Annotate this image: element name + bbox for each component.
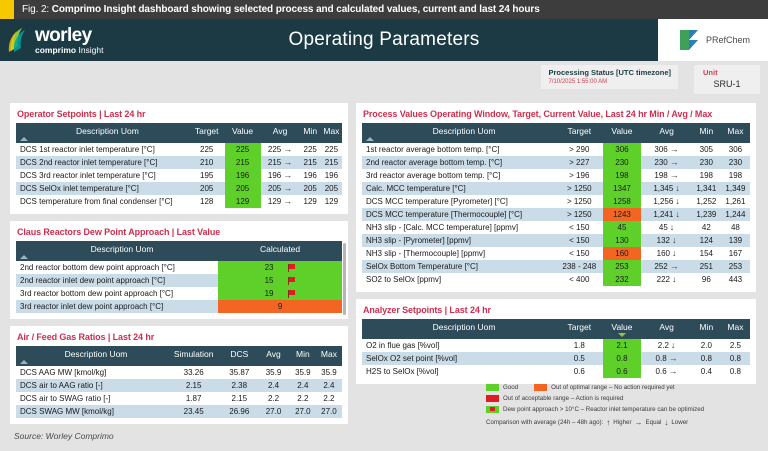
swatch-good-icon — [486, 384, 499, 391]
cell-avg: 2.4 — [257, 379, 290, 392]
cell-max: 2.2 — [316, 392, 342, 405]
table-header-row: Description Uom Target Value Avg Min Max — [362, 123, 750, 143]
cell-max: 2.5 — [721, 339, 750, 352]
cell-max: 0.8 — [721, 352, 750, 365]
figure-caption-bar: Fig. 2: Comprimo Insight dashboard showi… — [0, 0, 768, 19]
cell-avg: 252→ — [641, 260, 691, 273]
cell-target: > 1250 — [556, 208, 603, 221]
cell-desc: 1st reactor average bottom temp. [°C] — [362, 143, 556, 156]
col-simulation[interactable]: Simulation — [166, 346, 221, 366]
col-max[interactable]: Max — [721, 319, 750, 339]
cell-avg: 129→ — [261, 195, 300, 208]
legend-higher-label: Higher — [613, 418, 631, 428]
sort-asc-icon — [20, 137, 28, 141]
trend-eq-icon: → — [670, 145, 679, 154]
sort-asc-icon — [20, 255, 28, 259]
cell-target: > 290 — [556, 143, 603, 156]
table-row[interactable]: 2nd reactor bottom dew point approach [°… — [16, 261, 342, 274]
cell-value: 0.6 — [603, 365, 642, 378]
process-values-card: Process Values Operating Window, Target,… — [356, 103, 756, 292]
table-row[interactable]: NH3 slip - [Pyrometer] [ppmv]< 150130132… — [362, 234, 750, 247]
sort-desc-icon — [618, 333, 626, 337]
cell-avg: 222↓ — [641, 273, 691, 286]
col-min[interactable]: Min — [290, 346, 316, 366]
trend-eq-icon: → — [669, 367, 678, 376]
cell-target: > 1250 — [556, 182, 603, 195]
cell-avg: 27.0 — [257, 405, 290, 418]
cell-avg: 2.2↓ — [641, 339, 691, 352]
operator-setpoints-title: Operator Setpoints | Last 24 hr — [17, 109, 342, 119]
cell-min: 2.2 — [290, 392, 316, 405]
source-caption: Source: Worley Comprimo — [14, 431, 114, 441]
legend-equal-label: Equal — [646, 418, 662, 428]
cell-min: 2.4 — [290, 379, 316, 392]
trend-eq-icon: → — [669, 354, 678, 363]
prefchem-icon — [676, 27, 702, 53]
cell-desc: NH3 slip - [Calc. MCC temperature] [ppmv… — [362, 221, 556, 234]
col-description[interactable]: Description Uom — [16, 241, 218, 261]
col-avg[interactable]: Avg — [261, 123, 300, 143]
cell-max: 139 — [721, 234, 750, 247]
cell-value: 306 — [603, 143, 642, 156]
status-legend: Good Out of optimal range – No action re… — [486, 383, 758, 429]
operator-setpoints-table: Description Uom Target Value Avg Min Max… — [16, 123, 342, 208]
cell-avg: 1,345↓ — [641, 182, 691, 195]
cell-target: 225 — [189, 143, 225, 156]
cell-min: 251 — [692, 260, 721, 273]
cell-max: 167 — [721, 247, 750, 260]
cell-value: 1347 — [603, 182, 642, 195]
cell-min: 225 — [300, 143, 321, 156]
cell-avg: 1,241↓ — [641, 208, 691, 221]
dew-point-table: Description Uom Calculated 2nd reactor b… — [16, 241, 342, 313]
cell-value: 0.8 — [603, 352, 642, 365]
cell-dcs: 35.87 — [221, 366, 257, 379]
cell-max: 2.4 — [316, 379, 342, 392]
trend-down-icon: ↓ — [672, 275, 677, 284]
cell-max: 198 — [721, 169, 750, 182]
legend-row-good-warn: Good Out of optimal range – No action re… — [486, 383, 758, 393]
cell-desc: NH3 slip - [Pyrometer] [ppmv] — [362, 234, 556, 247]
trend-eq-icon: → — [283, 184, 292, 193]
table-row[interactable]: H2S to SelOx [%vol]0.60.60.6→0.40.8 — [362, 365, 750, 378]
col-description[interactable]: Description Uom — [362, 123, 556, 143]
col-label: Description Uom — [65, 349, 128, 359]
cell-target: < 150 — [556, 247, 603, 260]
cell-desc: SelOx O2 set point [%vol] — [362, 352, 556, 365]
swatch-bad-icon — [486, 395, 499, 402]
cell-min: 124 — [692, 234, 721, 247]
legend-flag-label: Dew point approach > 10°C – Reactor inle… — [503, 405, 704, 415]
cell-target: > 1250 — [556, 195, 603, 208]
analyzer-setpoints-card: Analyzer Setpoints | Last 24 hr Descript… — [356, 299, 756, 384]
table-row[interactable]: Calc. MCC temperature [°C]> 125013471,34… — [362, 182, 750, 195]
trend-down-icon: ↓ — [672, 249, 677, 258]
cell-value: 9 — [218, 300, 342, 313]
legend-good-label: Good — [503, 383, 518, 393]
table-row[interactable]: 3rd reactor average bottom temp. [°C]> 1… — [362, 169, 750, 182]
legend-comparison-label: Comparison with average (24h – 48h ago): — [486, 418, 603, 428]
air-feed-ratios-title: Air / Feed Gas Ratios | Last 24 hr — [17, 332, 342, 342]
cell-avg: 230→ — [641, 156, 691, 169]
col-value[interactable]: Value — [603, 123, 642, 143]
table-row[interactable]: DCS 1st reactor inlet temperature [°C]22… — [16, 143, 342, 156]
cell-value: 205 — [225, 182, 261, 195]
trend-eq-icon: → — [670, 171, 679, 180]
air-feed-ratios-body: DCS AAG MW [kmol/kg]33.2635.8735.935.935… — [16, 366, 342, 418]
cell-value: 232 — [603, 273, 642, 286]
cell-avg: 1,256↓ — [641, 195, 691, 208]
cell-target: 0.5 — [556, 352, 603, 365]
caption-accent-bar — [0, 0, 14, 19]
cell-value: 129 — [225, 195, 261, 208]
trend-eq-icon: → — [283, 158, 292, 167]
cell-avg: 45↓ — [641, 221, 691, 234]
trend-eq-icon: → — [283, 171, 292, 180]
cell-max: 306 — [721, 143, 750, 156]
col-label: Description Uom — [91, 244, 154, 254]
cell-target: 205 — [189, 182, 225, 195]
table-header-row: Description Uom Simulation DCS Avg Min M… — [16, 346, 342, 366]
table-row[interactable]: 2nd reactor inlet dew point approach [°C… — [16, 274, 342, 287]
process-values-table: Description Uom Target Value Avg Min Max… — [362, 123, 750, 286]
cell-desc: DCS 3rd reactor inlet temperature [°C] — [16, 169, 189, 182]
cell-min: 27.0 — [290, 405, 316, 418]
analyzer-setpoints-title: Analyzer Setpoints | Last 24 hr — [363, 305, 750, 315]
cell-min: 42 — [692, 221, 721, 234]
cell-simulation: 2.15 — [166, 379, 221, 392]
unit-label: Unit — [703, 68, 751, 77]
table-header-row: Description Uom Calculated — [16, 241, 342, 261]
cell-target: 0.6 — [556, 365, 603, 378]
cell-target: 195 — [189, 169, 225, 182]
col-value[interactable]: Value — [225, 123, 261, 143]
cell-avg: 196→ — [261, 169, 300, 182]
left-column: Operator Setpoints | Last 24 hr Descript… — [10, 103, 348, 431]
processing-status-box: Processing Status [UTC timezone] 7/10/20… — [541, 65, 678, 89]
cell-avg: 35.9 — [257, 366, 290, 379]
legend-warn-label: Out of optimal range – No action require… — [551, 383, 674, 393]
dew-point-flag-icon — [288, 264, 296, 272]
figure-caption-prefix: Fig. 2: — [22, 4, 49, 15]
cell-avg: 0.8→ — [641, 352, 691, 365]
cell-avg: 306→ — [641, 143, 691, 156]
cell-desc: 3rd reactor average bottom temp. [°C] — [362, 169, 556, 182]
cell-avg: 198→ — [641, 169, 691, 182]
cell-max: 35.9 — [316, 366, 342, 379]
cell-value: 1258 — [603, 195, 642, 208]
cell-desc: Calc. MCC temperature [°C] — [362, 182, 556, 195]
dashboard-page: Fig. 2: Comprimo Insight dashboard showi… — [0, 0, 768, 451]
dew-point-body: 2nd reactor bottom dew point approach [°… — [16, 261, 342, 313]
cell-value: 130 — [603, 234, 642, 247]
trend-eq-icon: → — [283, 197, 292, 206]
col-value[interactable]: Value — [603, 319, 642, 339]
trend-down-icon: ↓ — [672, 236, 677, 245]
cell-desc: DCS AAG MW [kmol/kg] — [16, 366, 166, 379]
col-target[interactable]: Target — [189, 123, 225, 143]
table-row[interactable]: DCS MCC temperature [Pyrometer] [°C]> 12… — [362, 195, 750, 208]
cell-target: < 150 — [556, 221, 603, 234]
cell-min: 0.4 — [692, 365, 721, 378]
dew-point-title: Claus Reactors Dew Point Approach | Last… — [17, 227, 342, 237]
operator-setpoints-card: Operator Setpoints | Last 24 hr Descript… — [10, 103, 348, 214]
table-row[interactable]: DCS SWAG MW [kmol/kg]23.4526.9627.027.02… — [16, 405, 342, 418]
col-calculated[interactable]: Calculated — [218, 241, 342, 261]
cell-min: 35.9 — [290, 366, 316, 379]
figure-caption: Fig. 2: Comprimo Insight dashboard showi… — [14, 4, 540, 15]
cell-desc: DCS air to AAG ratio [-] — [16, 379, 166, 392]
arrow-right-icon: → — [635, 417, 643, 429]
cell-min: 0.8 — [692, 352, 721, 365]
cell-min: 154 — [692, 247, 721, 260]
cell-value: 225 — [225, 143, 261, 156]
cell-min: 1,341 — [692, 182, 721, 195]
cell-target: 210 — [189, 156, 225, 169]
cell-min: 198 — [692, 169, 721, 182]
col-max[interactable]: Max — [321, 123, 342, 143]
table-row[interactable]: NH3 slip - [Calc. MCC temperature] [ppmv… — [362, 221, 750, 234]
cell-value: 215 — [225, 156, 261, 169]
col-label: Value — [611, 322, 632, 332]
legend-row-bad: Out of acceptable range – Action is requ… — [486, 394, 758, 404]
trend-down-icon: ↓ — [671, 341, 676, 350]
cell-max: 225 — [321, 143, 342, 156]
table-row[interactable]: NH3 slip - [Thermocouple] [ppmv]< 150160… — [362, 247, 750, 260]
cell-min: 305 — [692, 143, 721, 156]
table-row[interactable]: 2nd reactor average bottom temp. [°C]> 2… — [362, 156, 750, 169]
air-feed-ratios-card: Air / Feed Gas Ratios | Last 24 hr Descr… — [10, 326, 348, 424]
cell-desc: DCS MCC temperature [Pyrometer] [°C] — [362, 195, 556, 208]
sort-asc-icon — [366, 137, 374, 141]
cell-dcs: 2.15 — [221, 392, 257, 405]
app-header: worley comprimo Insight Operating Parame… — [0, 19, 768, 61]
arrow-up-icon: ↑ — [606, 417, 610, 429]
air-feed-ratios-table: Description Uom Simulation DCS Avg Min M… — [16, 346, 342, 418]
table-header-row: Description Uom Target Value Avg Min Max — [362, 319, 750, 339]
cell-simulation: 23.45 — [166, 405, 221, 418]
col-min[interactable]: Min — [692, 123, 721, 143]
cell-max: 48 — [721, 221, 750, 234]
col-max[interactable]: Max — [721, 123, 750, 143]
cell-desc: DCS 2nd reactor inlet temperature [°C] — [16, 156, 189, 169]
cell-desc: O2 in flue gas [%vol] — [362, 339, 556, 352]
cell-max: 205 — [321, 182, 342, 195]
cell-dcs: 26.96 — [221, 405, 257, 418]
table-row[interactable]: DCS temperature from final condenser [°C… — [16, 195, 342, 208]
status-strip: Processing Status [UTC timezone] 7/10/20… — [0, 61, 768, 103]
cell-target: > 196 — [556, 169, 603, 182]
unit-value: SRU-1 — [703, 79, 751, 89]
cell-target: < 400 — [556, 273, 603, 286]
cell-min: 215 — [300, 156, 321, 169]
col-min[interactable]: Min — [692, 319, 721, 339]
process-values-title: Process Values Operating Window, Target,… — [363, 109, 750, 119]
legend-comparison: Comparison with average (24h – 48h ago):… — [486, 417, 758, 429]
cell-min: 1,252 — [692, 195, 721, 208]
col-description[interactable]: Description Uom — [16, 123, 189, 143]
trend-down-icon: ↓ — [675, 210, 680, 219]
cell-simulation: 1.87 — [166, 392, 221, 405]
cell-max: 129 — [321, 195, 342, 208]
cell-max: 253 — [721, 260, 750, 273]
col-label: Description Uom — [433, 126, 496, 136]
table-row[interactable]: O2 in flue gas [%vol]1.82.12.2↓2.02.5 — [362, 339, 750, 352]
table-header-row: Description Uom Target Value Avg Min Max — [16, 123, 342, 143]
cell-desc: SelOx Bottom Temperature [°C] — [362, 260, 556, 273]
trend-down-icon: ↓ — [675, 197, 680, 206]
legend-lower-label: Lower — [671, 418, 688, 428]
col-label: Description Uom — [76, 126, 139, 136]
table-row[interactable]: DCS 2nd reactor inlet temperature [°C]21… — [16, 156, 342, 169]
analyzer-setpoints-table: Description Uom Target Value Avg Min Max… — [362, 319, 750, 378]
table-row[interactable]: DCS air to SWAG ratio [-]1.872.152.22.22… — [16, 392, 342, 405]
cell-desc: 3rd reactor bottom dew point approach [°… — [16, 287, 218, 300]
cell-target: 128 — [189, 195, 225, 208]
analyzer-setpoints-body: O2 in flue gas [%vol]1.82.12.2↓2.02.5Sel… — [362, 339, 750, 378]
cell-value: 15 — [218, 274, 342, 287]
col-description[interactable]: Description Uom — [362, 319, 556, 339]
cell-max: 1,349 — [721, 182, 750, 195]
col-avg[interactable]: Avg — [641, 319, 691, 339]
trend-eq-icon: → — [670, 158, 679, 167]
col-target[interactable]: Target — [556, 319, 603, 339]
cell-avg: 132↓ — [641, 234, 691, 247]
cell-max: 230 — [721, 156, 750, 169]
table-row[interactable]: 1st reactor average bottom temp. [°C]> 2… — [362, 143, 750, 156]
processing-status-label: Processing Status [UTC timezone] — [548, 68, 671, 77]
cell-target: > 227 — [556, 156, 603, 169]
cell-desc: DCS SWAG MW [kmol/kg] — [16, 405, 166, 418]
cell-min: 2.0 — [692, 339, 721, 352]
table-row[interactable]: DCS air to AAG ratio [-]2.152.382.42.42.… — [16, 379, 342, 392]
cell-desc: DCS temperature from final condenser [°C… — [16, 195, 189, 208]
cell-value: 23 — [218, 261, 342, 274]
col-avg[interactable]: Avg — [641, 123, 691, 143]
cell-desc: DCS air to SWAG ratio [-] — [16, 392, 166, 405]
table-row[interactable]: SO2 to SelOx [ppmv]< 400232222↓96443 — [362, 273, 750, 286]
cell-min: 129 — [300, 195, 321, 208]
cell-desc: SO2 to SelOx [ppmv] — [362, 273, 556, 286]
cell-min: 230 — [692, 156, 721, 169]
cell-value: 2.1 — [603, 339, 642, 352]
cell-desc: DCS MCC temperature [Thermocouple] [°C] — [362, 208, 556, 221]
process-values-body: 1st reactor average bottom temp. [°C]> 2… — [362, 143, 750, 286]
table-row[interactable]: DCS SelOx inlet temperature [°C]20520520… — [16, 182, 342, 195]
figure-caption-text: Comprimo Insight dashboard showing selec… — [52, 4, 540, 15]
cell-dcs: 2.38 — [221, 379, 257, 392]
unit-selector[interactable]: Unit SRU-1 — [694, 65, 760, 94]
cell-max: 443 — [721, 273, 750, 286]
cell-max: 196 — [321, 169, 342, 182]
swatch-warn-icon — [534, 384, 547, 391]
cell-target: < 150 — [556, 234, 603, 247]
cell-min: 1,239 — [692, 208, 721, 221]
legend-bad-label: Out of acceptable range – Action is requ… — [503, 394, 623, 404]
sort-asc-icon — [20, 360, 28, 364]
cell-min: 205 — [300, 182, 321, 195]
col-max[interactable]: Max — [316, 346, 342, 366]
dew-point-card: Claus Reactors Dew Point Approach | Last… — [10, 221, 348, 319]
trend-down-icon: ↓ — [670, 223, 675, 232]
cell-desc: 2nd reactor bottom dew point approach [°… — [16, 261, 218, 274]
legend-row-flag: Dew point approach > 10°C – Reactor inle… — [486, 405, 758, 415]
cell-desc: H2S to SelOx [%vol] — [362, 365, 556, 378]
col-description[interactable]: Description Uom — [16, 346, 166, 366]
cell-value: 160 — [603, 247, 642, 260]
cell-avg: 205→ — [261, 182, 300, 195]
cell-target: 238 - 248 — [556, 260, 603, 273]
cell-value: 1243 — [603, 208, 642, 221]
cell-max: 27.0 — [316, 405, 342, 418]
cell-desc: 2nd reactor average bottom temp. [°C] — [362, 156, 556, 169]
trend-eq-icon: → — [670, 262, 679, 271]
cell-avg: 225→ — [261, 143, 300, 156]
table-row[interactable]: DCS MCC temperature [Thermocouple] [°C]>… — [362, 208, 750, 221]
col-avg[interactable]: Avg — [257, 346, 290, 366]
cell-value: 196 — [225, 169, 261, 182]
operator-setpoints-body: DCS 1st reactor inlet temperature [°C]22… — [16, 143, 342, 208]
cell-desc: 3rd reactor inlet dew point approach [°C… — [16, 300, 218, 313]
trend-eq-icon: → — [283, 145, 292, 154]
cell-value: 19 — [218, 287, 342, 300]
cell-value: 198 — [603, 169, 642, 182]
cell-desc: DCS 1st reactor inlet temperature [°C] — [16, 143, 189, 156]
processing-status-timestamp: 7/10/2025 1:55:00 AM — [548, 79, 671, 85]
dew-point-flag-icon — [288, 290, 296, 298]
cell-max: 215 — [321, 156, 342, 169]
cell-avg: 215→ — [261, 156, 300, 169]
cell-avg: 2.2 — [257, 392, 290, 405]
cell-value: 45 — [603, 221, 642, 234]
table-row[interactable]: DCS 3rd reactor inlet temperature [°C]19… — [16, 169, 342, 182]
trend-down-icon: ↓ — [675, 184, 680, 193]
col-min[interactable]: Min — [300, 123, 321, 143]
dew-point-flag-icon — [288, 277, 296, 285]
col-target[interactable]: Target — [556, 123, 603, 143]
table-row[interactable]: SelOx Bottom Temperature [°C]238 - 24825… — [362, 260, 750, 273]
cell-avg: 160↓ — [641, 247, 691, 260]
table-row[interactable]: DCS AAG MW [kmol/kg]33.2635.8735.935.935… — [16, 366, 342, 379]
cell-avg: 0.6→ — [641, 365, 691, 378]
col-label: Description Uom — [433, 322, 496, 332]
cell-simulation: 33.26 — [166, 366, 221, 379]
cell-desc: DCS SelOx inlet temperature [°C] — [16, 182, 189, 195]
cell-desc: NH3 slip - [Thermocouple] [ppmv] — [362, 247, 556, 260]
col-dcs[interactable]: DCS — [221, 346, 257, 366]
table-row[interactable]: 3rd reactor bottom dew point approach [°… — [16, 287, 342, 300]
cell-max: 1,261 — [721, 195, 750, 208]
swatch-flag-icon — [486, 406, 499, 413]
cell-desc: 2nd reactor inlet dew point approach [°C… — [16, 274, 218, 287]
cell-min: 96 — [692, 273, 721, 286]
table-row[interactable]: 3rd reactor inlet dew point approach [°C… — [16, 300, 342, 313]
cell-max: 1,244 — [721, 208, 750, 221]
cell-max: 0.8 — [721, 365, 750, 378]
cell-min: 196 — [300, 169, 321, 182]
cell-value: 253 — [603, 260, 642, 273]
cell-value: 230 — [603, 156, 642, 169]
cell-target: 1.8 — [556, 339, 603, 352]
arrow-down-icon: ↓ — [664, 417, 668, 429]
page-title: Operating Parameters — [0, 29, 768, 51]
table-row[interactable]: SelOx O2 set point [%vol]0.50.80.8→0.80.… — [362, 352, 750, 365]
vertical-scrollbar[interactable] — [343, 243, 346, 315]
